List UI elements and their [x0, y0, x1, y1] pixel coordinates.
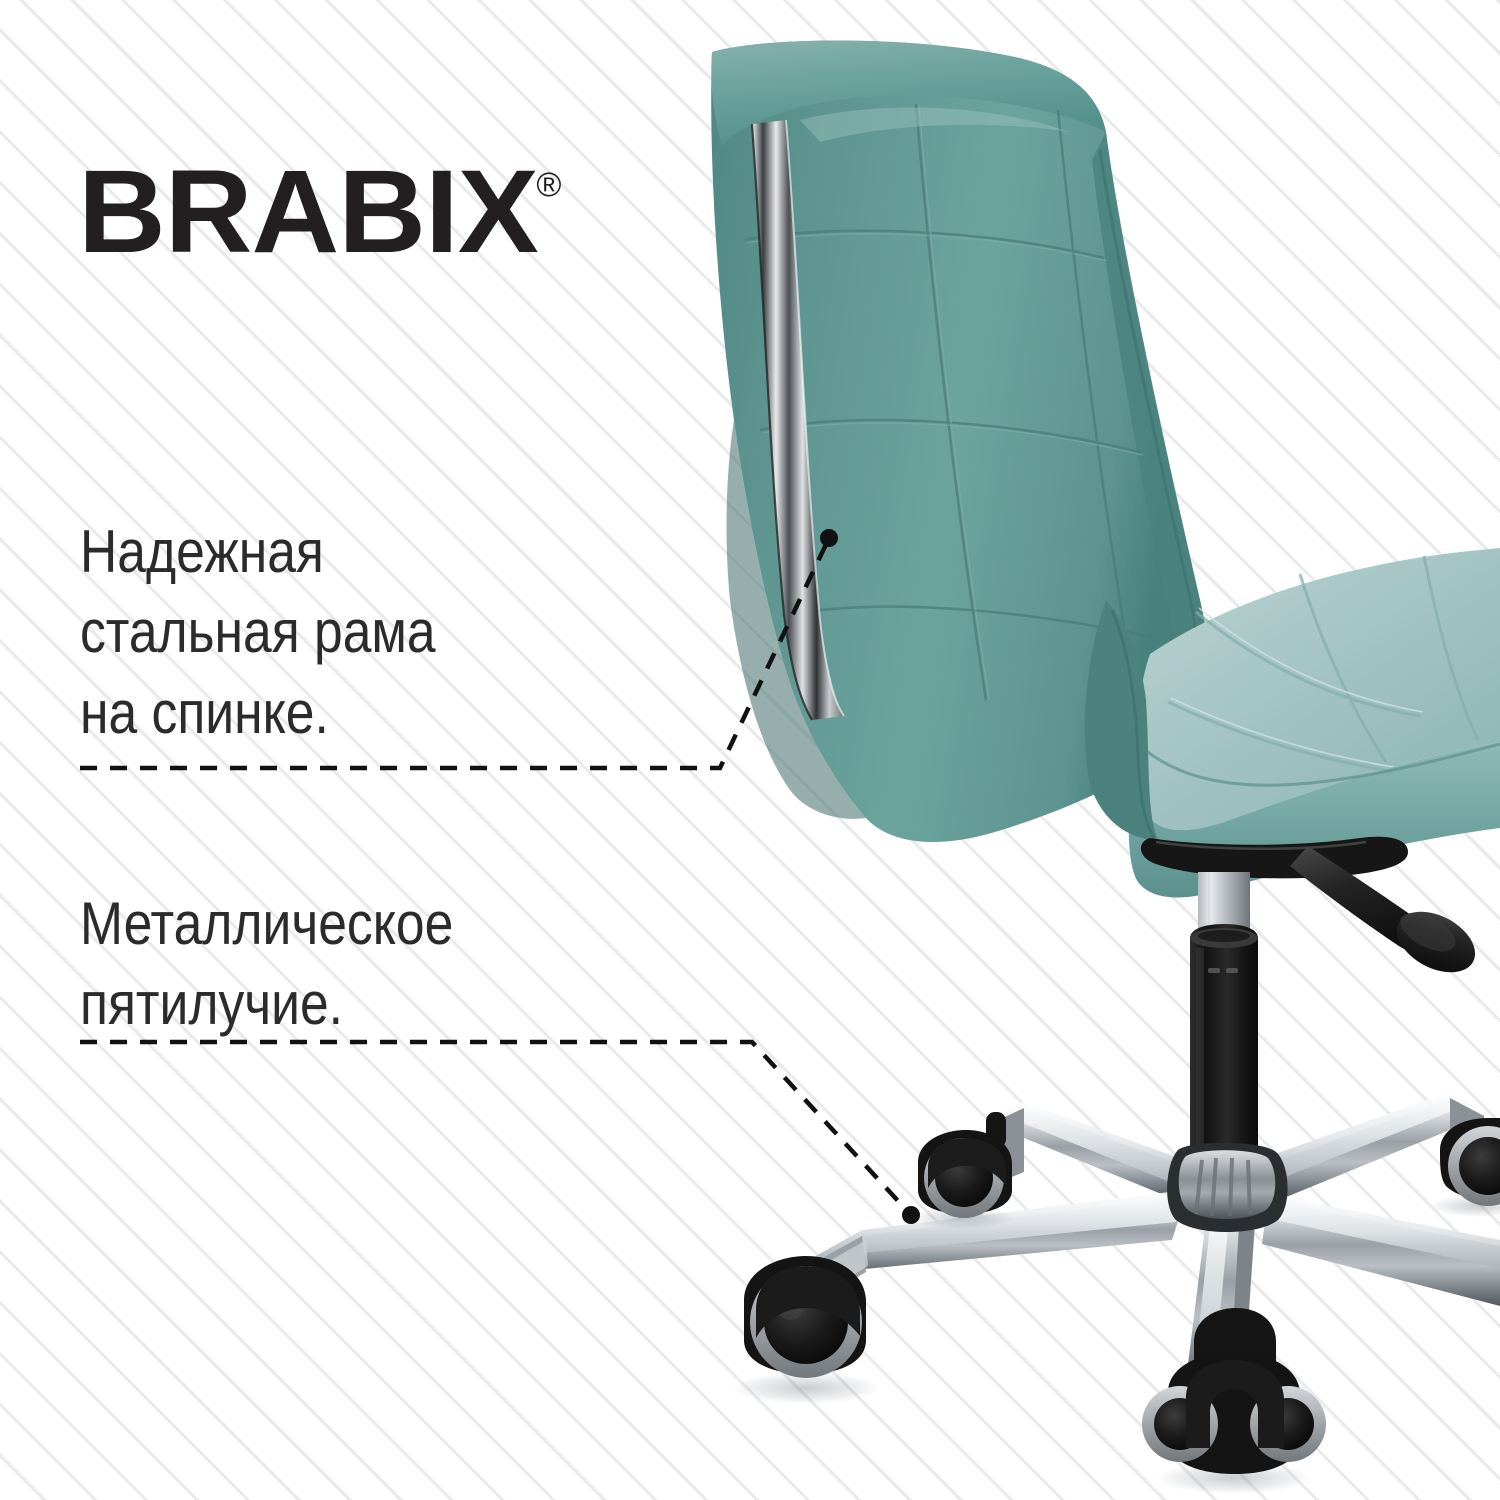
product-feature-banner: BRABIX ® Надежная стальная рама на спинк… — [0, 0, 1500, 1500]
registered-trademark-icon: ® — [536, 168, 561, 202]
brand-wordmark: BRABIX — [78, 158, 538, 267]
brabix-logo: BRABIX ® — [78, 158, 561, 267]
feature-text-steel-frame: Надежная стальная рама на спинке. — [80, 512, 562, 753]
feature-callout-steel-frame: Надежная стальная рама на спинке. — [80, 512, 640, 753]
feature-callout-five-star-base: Металлическое пятилучие. — [80, 884, 640, 1045]
feature-text-five-star-base: Металлическое пятилучие. — [80, 884, 562, 1045]
